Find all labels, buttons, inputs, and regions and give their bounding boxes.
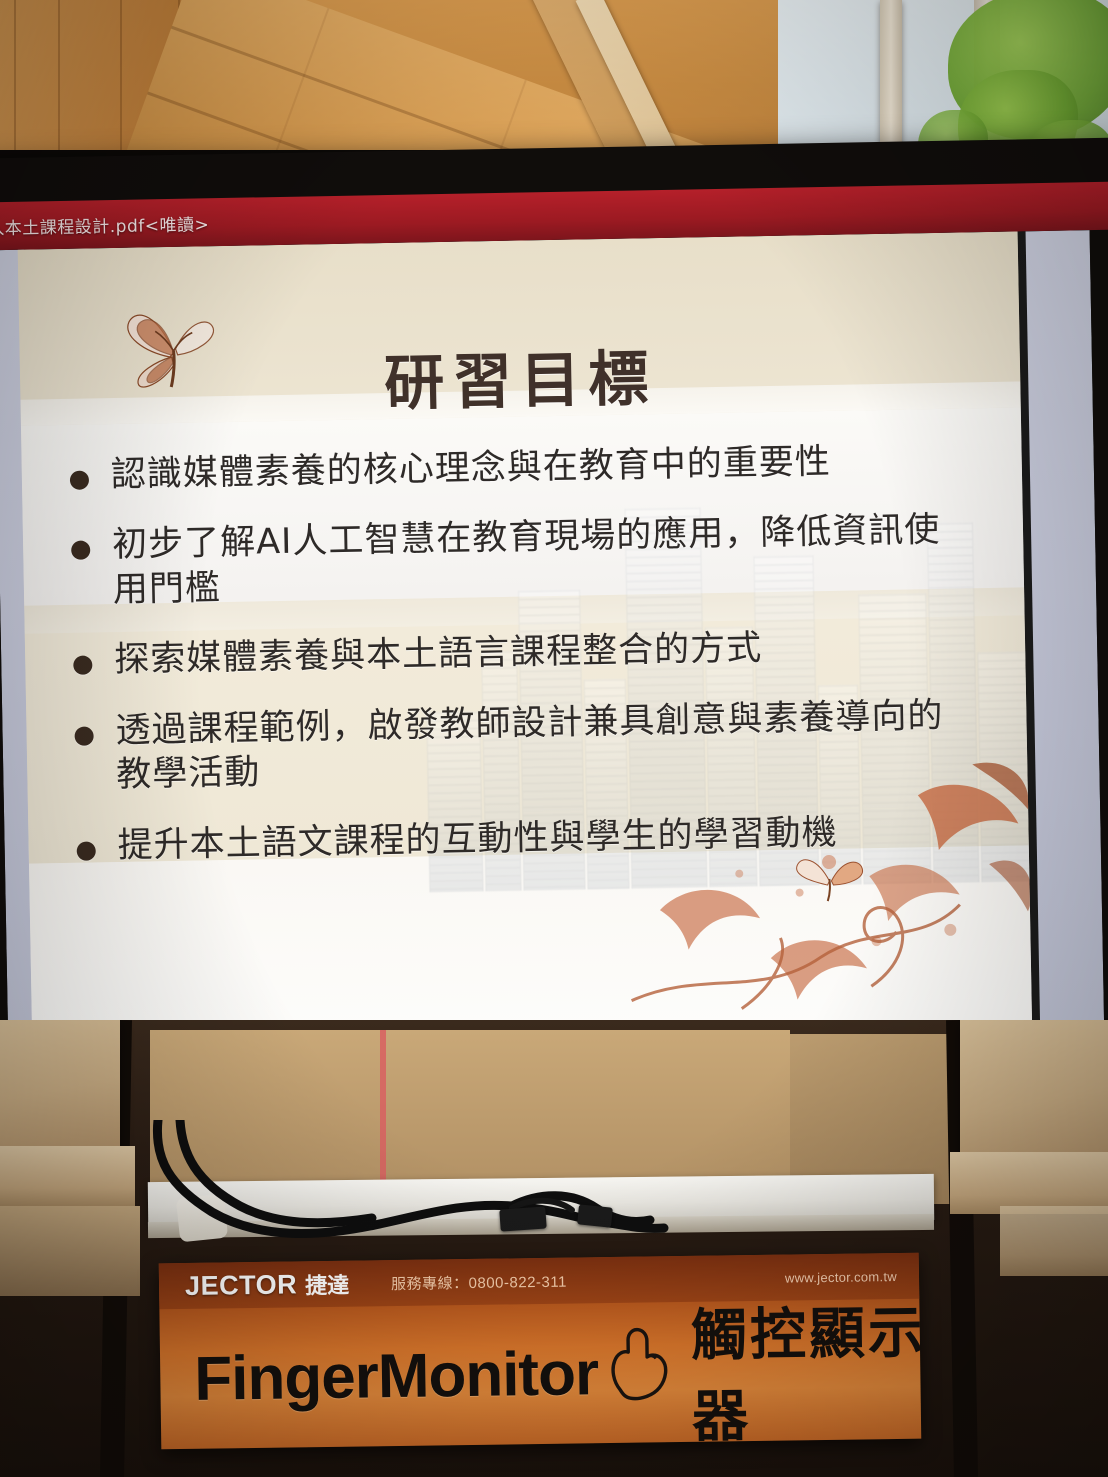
bullet-text: 初步了解AI人工智慧在教育現場的應用，降低資訊使用門檻 <box>112 508 972 613</box>
room-scene: 入本土課程設計.pdf<唯讀> <box>0 0 1108 1477</box>
slide-title: 研習目標 <box>19 323 1020 428</box>
power-plug <box>499 1206 546 1231</box>
service-hotline: 服務專線：0800-822-311 <box>391 1270 567 1293</box>
fingermonitor-branding-panel: JECTOR 捷達 服務專線：0800-822-311 www.jector.c… <box>159 1253 922 1450</box>
pdf-slide: 研習目標 認識媒體素養的核心理念與在教育中的重要性 初步了解AI人工智慧在教育現… <box>18 231 1034 1111</box>
panel-brand-name-cn: 捷達 <box>305 1268 349 1301</box>
list-item: 透過課程範例，啟發教師設計兼具創意與素養導向的教學活動 <box>74 693 975 798</box>
panel-brand-name: JECTOR <box>185 1269 297 1302</box>
bench-right-seat-lower <box>1000 1206 1108 1276</box>
pillarbox-right <box>1026 230 1106 1093</box>
bench-left-back <box>0 1020 120 1150</box>
bullet-dot-icon <box>71 541 90 560</box>
bench-right-back <box>960 1020 1108 1160</box>
product-name-cn: 觸控顯示器 <box>690 1287 921 1449</box>
bench-left-apron <box>0 1206 140 1296</box>
monitor-screen[interactable]: 研習目標 認識媒體素養的核心理念與在教育中的重要性 初步了解AI人工智慧在教育現… <box>0 230 1105 1112</box>
product-name: FingerMonitor <box>194 1338 599 1415</box>
bullet-dot-icon <box>73 656 92 675</box>
touch-monitor: 入本土課程設計.pdf<唯讀> <box>0 138 1108 1039</box>
power-cables <box>120 1120 940 1250</box>
pointing-hand-icon <box>593 1317 680 1414</box>
list-item: 初步了解AI人工智慧在教育現場的應用，降低資訊使用門檻 <box>71 508 972 613</box>
document-title: 入本土課程設計.pdf<唯讀> <box>0 210 209 239</box>
list-item: 提升本土語文課程的互動性與學生的學習動機 <box>76 808 977 869</box>
bullet-text: 提升本土語文課程的互動性與學生的學習動機 <box>117 810 838 868</box>
panel-brand: JECTOR 捷達 <box>159 1268 349 1303</box>
bullet-text: 探索媒體素養與本土語言課程整合的方式 <box>114 627 763 683</box>
slide-bullet-list: 認識媒體素養的核心理念與在教育中的重要性 初步了解AI人工智慧在教育現場的應用，… <box>69 437 977 894</box>
bullet-dot-icon <box>70 471 89 490</box>
bullet-dot-icon <box>74 726 93 745</box>
bench-right-seat <box>950 1152 1108 1214</box>
bullet-text: 透過課程範例，啟發教師設計兼具創意與素養導向的教學活動 <box>115 693 975 798</box>
website-url[interactable]: www.jector.com.tw <box>785 1268 919 1285</box>
bench-left-seat <box>0 1146 135 1206</box>
panel-product-row: FingerMonitor 觸控顯示器 <box>159 1298 921 1449</box>
power-plug-secondary <box>577 1204 613 1227</box>
bullet-dot-icon <box>77 841 96 860</box>
list-item: 探索媒體素養與本土語言課程整合的方式 <box>73 623 974 684</box>
